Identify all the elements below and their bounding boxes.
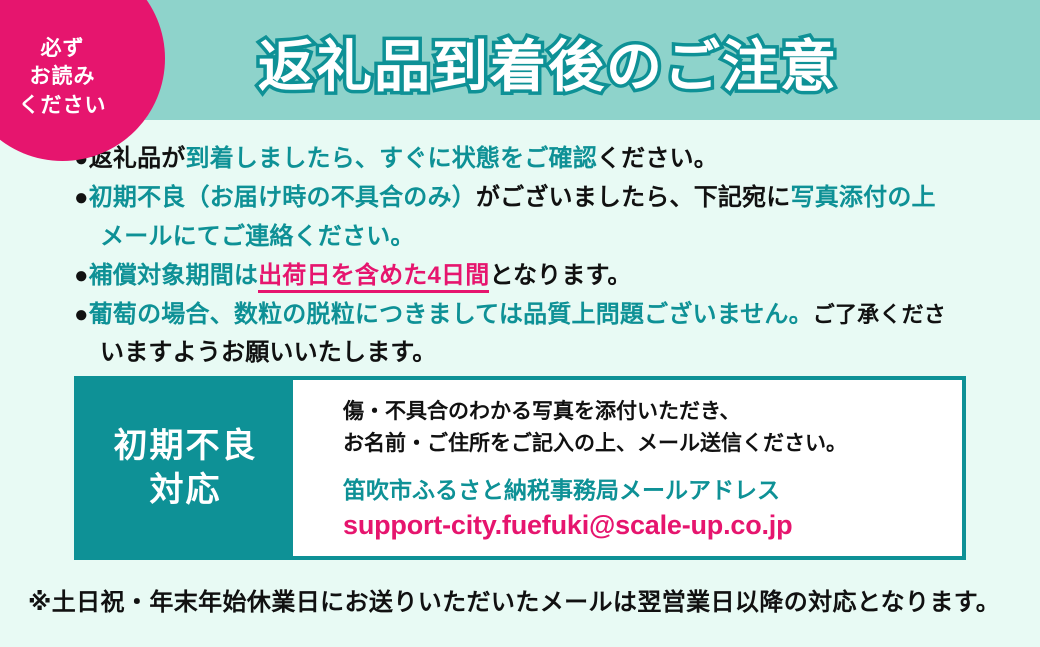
list-item: ●返礼品が到着しましたら、すぐに状態をご確認ください。 — [74, 140, 1014, 179]
notice-list: ●返礼品が到着しましたら、すぐに状態をご確認ください。 ●初期不良（お届け時の不… — [74, 140, 1014, 373]
bullet-continuation: いますようお願いいたします。 — [74, 334, 1014, 373]
bullet-segment: となります。 — [489, 262, 631, 289]
bullet-segment: 補償対象期間は — [89, 262, 258, 289]
page-title: 返礼品到着後のご注意 — [258, 22, 838, 103]
initial-defect-label-line-2: 対応 — [150, 468, 222, 512]
bullet-marker: ● — [74, 301, 89, 328]
bullet-segment: ご了承くださ — [813, 302, 946, 327]
bullet-segment: 到着しましたら、すぐに状態をご確認 — [186, 145, 597, 172]
bullet-marker: ● — [74, 262, 89, 289]
instruction-line-2: お名前・ご住所をご記入の上、メール送信ください。 — [343, 428, 962, 460]
must-read-badge: 必ず お読み ください — [0, 0, 165, 161]
initial-defect-label-line-1: 初期不良 — [114, 424, 258, 468]
bullet-segment: ください。 — [597, 145, 718, 172]
badge-line-1: 必ず — [41, 35, 85, 63]
badge-line-3: ください — [19, 92, 107, 120]
initial-defect-box: 初期不良 対応 傷・不具合のわかる写真を添付いただき、 お名前・ご住所をご記入の… — [74, 376, 966, 560]
bullet-marker: ● — [74, 184, 89, 211]
bullet-segment: 初期不良（お届け時の不具合のみ） — [89, 184, 476, 211]
bullet-segment-highlight: 出荷日を含めた4日間 — [258, 262, 489, 293]
bullet-segment: 葡萄の場合、数粒の脱粒につきましては品質上問題ございません。 — [89, 301, 813, 328]
bullet-segment: がございましたら、下記宛に — [476, 184, 791, 211]
footer-note: ※土日祝・年末年始休業日にお送りいただいたメールは翌営業日以降の対応となります。 — [28, 582, 1000, 617]
instruction-line-1: 傷・不具合のわかる写真を添付いただき、 — [343, 396, 962, 428]
initial-defect-content-panel: 傷・不具合のわかる写真を添付いただき、 お名前・ご住所をご記入の上、メール送信く… — [293, 380, 962, 556]
bullet-continuation: メールにてご連絡ください。 — [74, 218, 1014, 257]
mail-address-value[interactable]: support-city.fuefuki@scale-up.co.jp — [343, 510, 962, 541]
mail-address-label: 笛吹市ふるさと納税事務局メールアドレス — [343, 471, 962, 505]
initial-defect-label-panel: 初期不良 対応 — [78, 380, 293, 556]
list-item: ●初期不良（お届け時の不具合のみ）がございましたら、下記宛に写真添付の上 メール… — [74, 179, 1014, 257]
badge-line-2: お読み — [30, 63, 96, 91]
bullet-segment: 写真添付の上 — [791, 184, 936, 211]
list-item: ●補償対象期間は出荷日を含めた4日間となります。 — [74, 257, 1014, 296]
list-item: ●葡萄の場合、数粒の脱粒につきましては品質上問題ございません。ご了承くださ いま… — [74, 296, 1014, 374]
